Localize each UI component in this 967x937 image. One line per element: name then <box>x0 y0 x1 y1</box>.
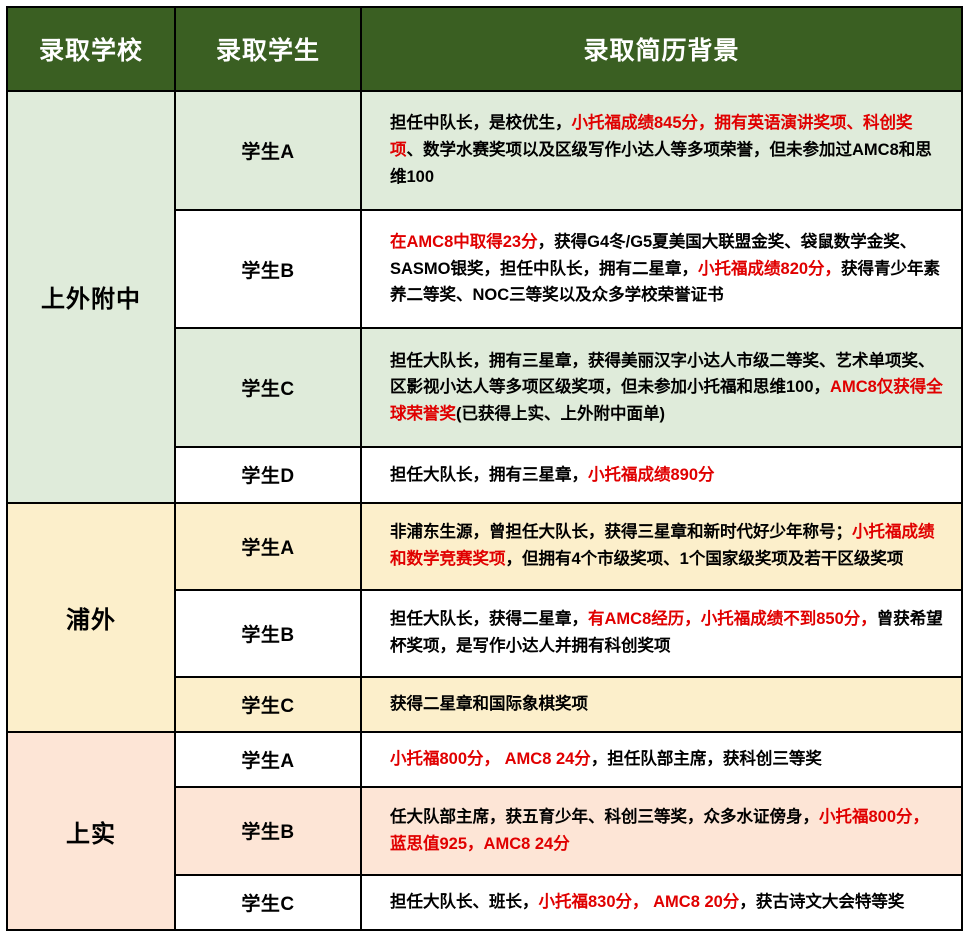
student-label-cell: 学生A <box>175 732 361 787</box>
student-label-cell: 学生C <box>175 677 361 732</box>
table-body: 上外附中学生A担任中队长，是校优生，小托福成绩845分，拥有英语演讲奖项、科创奖… <box>7 91 962 930</box>
resume-background-cell: 担任大队长，拥有三星章，小托福成绩890分 <box>361 447 962 502</box>
resume-text: (已获得上实、上外附中面单) <box>456 405 665 423</box>
resume-highlight-text: 有AMC8经历，小托福成绩不到850分， <box>588 610 877 628</box>
resume-background-cell: 获得二星章和国际象棋奖项 <box>361 677 962 732</box>
resume-text: ，获古诗文大会特等奖 <box>739 893 904 911</box>
student-label-cell: 学生B <box>175 787 361 874</box>
column-header-student: 录取学生 <box>175 7 361 91</box>
resume-text: 担任大队长，拥有三星章， <box>390 466 588 484</box>
resume-text: ，担任队部主席，获科创三等奖 <box>591 750 822 768</box>
resume-highlight-text: 小托福成绩890分 <box>588 466 715 484</box>
resume-text: 担任中队长，是校优生， <box>390 114 572 132</box>
student-label-cell: 学生C <box>175 328 361 447</box>
resume-text: 获得二星章和国际象棋奖项 <box>390 695 588 713</box>
column-header-resume: 录取简历背景 <box>361 7 962 91</box>
resume-highlight-text: 小托福800分， AMC8 24分 <box>390 750 591 768</box>
resume-background-cell: 担任大队长、班长，小托福830分， AMC8 20分，获古诗文大会特等奖 <box>361 875 962 930</box>
table-row: 上外附中学生A担任中队长，是校优生，小托福成绩845分，拥有英语演讲奖项、科创奖… <box>7 91 962 210</box>
header-row: 录取学校 录取学生 录取简历背景 <box>7 7 962 91</box>
resume-highlight-text: 小托福830分， AMC8 20分 <box>539 893 740 911</box>
resume-background-cell: 非浦东生源，曾担任大队长，获得三星章和新时代好少年称号；小托福成绩和数学竞赛奖项… <box>361 503 962 590</box>
resume-background-cell: 小托福800分， AMC8 24分，担任队部主席，获科创三等奖 <box>361 732 962 787</box>
table-header: 录取学校 录取学生 录取简历背景 <box>7 7 962 91</box>
resume-background-cell: 担任大队长，拥有三星章，获得美丽汉字小达人市级二等奖、艺术单项奖、区影视小达人等… <box>361 328 962 447</box>
resume-text: ，但拥有4个市级奖项、1个国家级奖项及若干区级奖项 <box>506 550 904 568</box>
school-name-cell: 上实 <box>7 732 175 930</box>
resume-text: 担任大队长、班长， <box>390 893 539 911</box>
admission-table-container: 录取学校 录取学生 录取简历背景 上外附中学生A担任中队长，是校优生，小托福成绩… <box>0 0 967 937</box>
table-row: 上实学生A小托福800分， AMC8 24分，担任队部主席，获科创三等奖 <box>7 732 962 787</box>
student-label-cell: 学生C <box>175 875 361 930</box>
student-label-cell: 学生B <box>175 590 361 677</box>
resume-highlight-text: 小托福成绩820分， <box>698 260 841 278</box>
resume-text: 非浦东生源，曾担任大队长，获得三星章和新时代好少年称号； <box>390 523 852 541</box>
resume-highlight-text: 在AMC8中取得23分 <box>390 233 538 251</box>
resume-background-cell: 在AMC8中取得23分，获得G4冬/G5夏美国大联盟金奖、袋鼠数学金奖、SASM… <box>361 210 962 329</box>
student-label-cell: 学生A <box>175 503 361 590</box>
resume-background-cell: 任大队部主席，获五育少年、科创三等奖，众多水证傍身，小托福800分，蓝思值925… <box>361 787 962 874</box>
student-label-cell: 学生B <box>175 210 361 329</box>
resume-background-cell: 担任大队长，获得二星章，有AMC8经历，小托福成绩不到850分，曾获希望杯奖项，… <box>361 590 962 677</box>
column-header-school: 录取学校 <box>7 7 175 91</box>
school-name-cell: 浦外 <box>7 503 175 733</box>
resume-text: 担任大队长，获得二星章， <box>390 610 588 628</box>
school-name-cell: 上外附中 <box>7 91 175 503</box>
admission-results-table: 录取学校 录取学生 录取简历背景 上外附中学生A担任中队长，是校优生，小托福成绩… <box>6 6 963 931</box>
resume-text: 、数学水赛奖项以及区级写作小达人等多项荣誉，但未参加过AMC8和思维100 <box>390 141 932 186</box>
student-label-cell: 学生D <box>175 447 361 502</box>
table-row: 浦外学生A非浦东生源，曾担任大队长，获得三星章和新时代好少年称号；小托福成绩和数… <box>7 503 962 590</box>
resume-text: 任大队部主席，获五育少年、科创三等奖，众多水证傍身， <box>390 808 819 826</box>
resume-background-cell: 担任中队长，是校优生，小托福成绩845分，拥有英语演讲奖项、科创奖项、数学水赛奖… <box>361 91 962 210</box>
student-label-cell: 学生A <box>175 91 361 210</box>
